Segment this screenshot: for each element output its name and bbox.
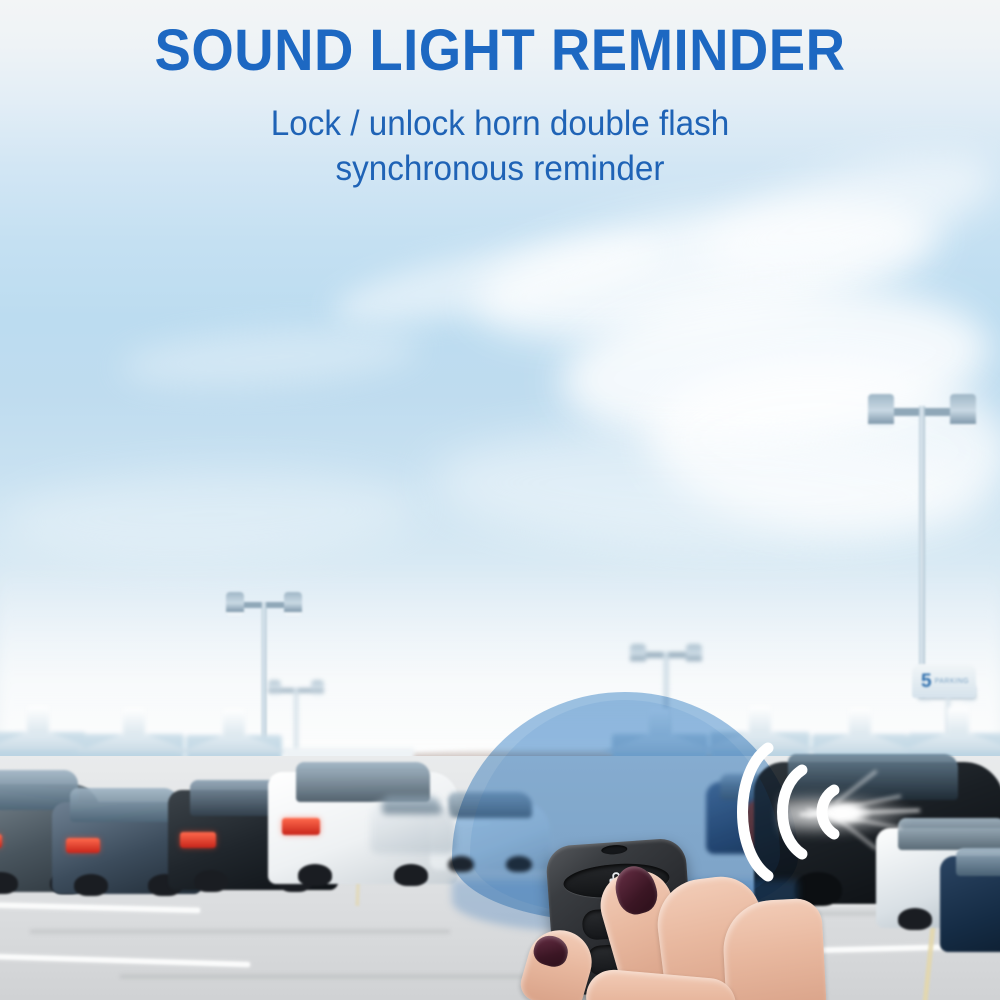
keyring-hole [601,844,628,855]
subtitle-line-1: Lock / unlock horn double flash [25,102,975,147]
lot-caption: PARKING [935,678,970,685]
light-pole [862,398,982,698]
parking-lot-sign: 5 PARKING [912,664,976,698]
lot-number: 5 [921,672,932,691]
parked-car [940,840,1000,952]
headline-block: SOUND LIGHT REMINDER Lock / unlock horn … [0,22,1000,192]
page-title: SOUND LIGHT REMINDER [30,22,970,80]
remote-control-group [524,838,824,1000]
hand [524,882,824,1000]
subtitle-line-2: synchronous reminder [25,147,975,192]
parked-car [370,792,456,854]
product-feature-banner: SOUND LIGHT REMINDER Lock / unlock horn … [0,0,1000,1000]
page-subtitle: Lock / unlock horn double flash synchron… [25,102,975,192]
